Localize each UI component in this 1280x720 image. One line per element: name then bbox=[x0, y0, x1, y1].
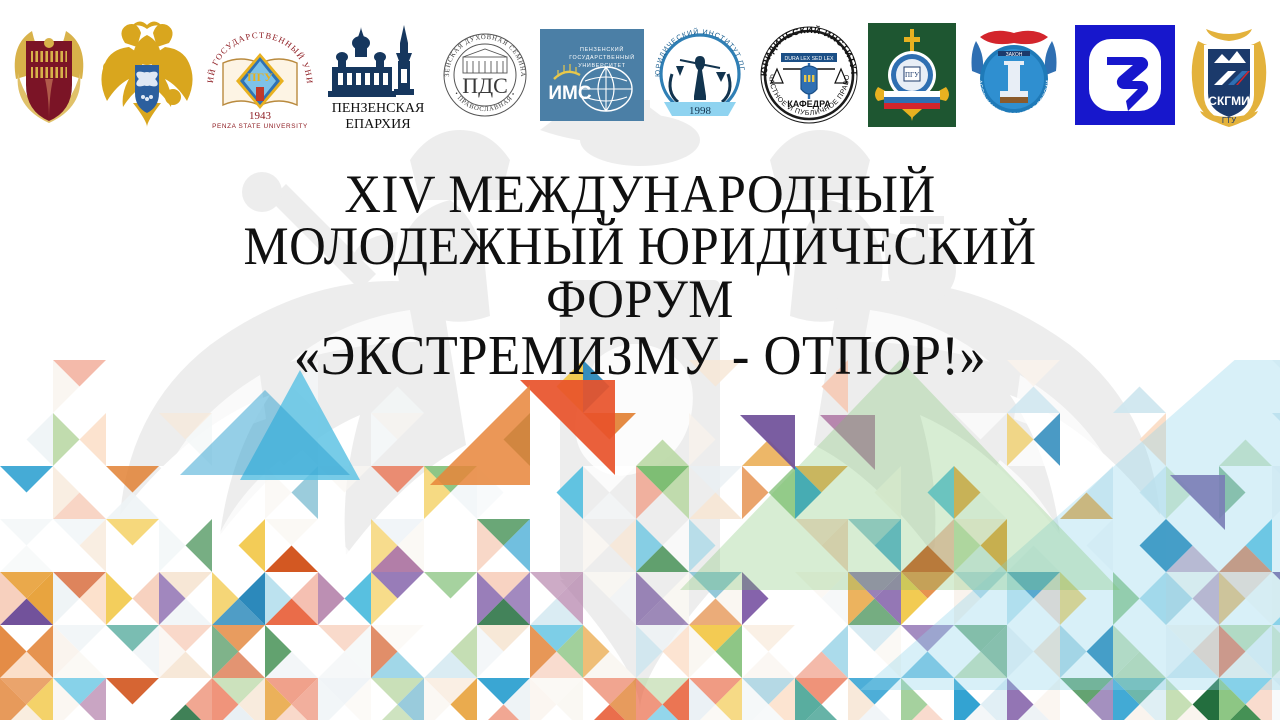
svg-text:ИМС: ИМС bbox=[548, 83, 591, 104]
skgmi-gtu-logo: СКГМИ ГТУ bbox=[1184, 19, 1274, 131]
svg-text:ГТУ: ГТУ bbox=[1222, 116, 1237, 125]
svg-text:ПЕНЗЕНСКИЙ: ПЕНЗЕНСКИЙ bbox=[580, 45, 624, 53]
svg-text:PENZA STATE UNIVERSITY: PENZA STATE UNIVERSITY bbox=[213, 123, 309, 130]
ims-institute-logo: ПЕНЗЕНСКИЙ ГОСУДАРСТВЕННЫЙ УНИВЕРСИТЕТ И… bbox=[540, 27, 644, 123]
svg-text:ПГУ: ПГУ bbox=[248, 70, 274, 84]
svg-text:ПДС: ПДС bbox=[462, 73, 508, 98]
title-line-4: «ЭКСТРЕМИЗМУ - ОТПОР!» bbox=[38, 329, 1241, 383]
penza-eparchy-logo: ПЕНЗЕНСКАЯ ЕПАРХИЯ bbox=[326, 19, 430, 131]
svg-text:1943: 1943 bbox=[249, 110, 272, 122]
svg-text:ПГУ: ПГУ bbox=[905, 71, 919, 79]
red-shield-laurel-logo bbox=[6, 21, 92, 129]
penza-state-university-logo: ПЕНЗЕНСКИЙ ГОСУДАРСТВЕННЫЙ УНИВЕРСИТЕТ П… bbox=[201, 19, 319, 131]
partner-logo-strip: ПЕНЗЕНСКИЙ ГОСУДАРСТВЕННЫЙ УНИВЕРСИТЕТ П… bbox=[0, 0, 1280, 150]
svg-text:DURA LEX SED LEX: DURA LEX SED LEX bbox=[785, 56, 835, 62]
svg-text:СКГМИ: СКГМИ bbox=[1208, 94, 1249, 108]
svg-text:ПЕНЗЕНСКАЯ: ПЕНЗЕНСКАЯ bbox=[332, 101, 425, 116]
russian-double-eagle-logo bbox=[99, 21, 195, 129]
svg-text:ЗАКОН: ЗАКОН bbox=[1006, 52, 1023, 58]
svg-text:ПЕНЗЕНСКАЯ ДУХОВНАЯ СЕМИНАРИЯ: ПЕНЗЕНСКАЯ ДУХОВНАЯ СЕМИНАРИЯ bbox=[437, 25, 526, 78]
svg-text:1998: 1998 bbox=[689, 105, 712, 117]
poster-title: XIV МЕЖДУНАРОДНЫЙ МОЛОДЕЖНЫЙ ЮРИДИЧЕСКИЙ… bbox=[0, 168, 1280, 383]
svg-text:ГОСУДАРСТВЕННЫЙ: ГОСУДАРСТВЕННЫЙ bbox=[569, 53, 635, 61]
russian-lawyers-association-logo: ЗАКОН АССОЦИАЦИЯ ЮРИСТОВ РОССИИ bbox=[962, 21, 1066, 129]
svg-text:ЕПАРХИЯ: ЕПАРХИЯ bbox=[346, 117, 411, 131]
private-and-public-law-department-logo: ЮРИДИЧЕСКИЙ ИНСТИТУТ ЧАСТНОЕ И ПУБЛИЧНОЕ… bbox=[757, 23, 861, 127]
z-mark-blue-logo bbox=[1073, 23, 1177, 127]
svg-text:КАФЕДРА: КАФЕДРА bbox=[787, 99, 831, 109]
title-line-2: МОЛОДЕЖНЫЙ ЮРИДИЧЕСКИЙ bbox=[38, 220, 1241, 272]
penza-theological-seminary-logo: ПЕНЗЕНСКАЯ ДУХОВНАЯ СЕМИНАРИЯ • ПРАВОСЛА… bbox=[437, 25, 533, 125]
title-line-1: XIV МЕЖДУНАРОДНЫЙ bbox=[38, 168, 1241, 220]
triangle-mosaic-decoration bbox=[0, 360, 1280, 720]
law-institute-pgu-logo: ЮРИДИЧЕСКИЙ ИНСТИТУТ ПГУ 1998 bbox=[650, 22, 750, 128]
pgu-cadet-emblem-logo: ПГУ bbox=[868, 21, 956, 129]
poster-canvas: ПЕНЗЕНСКИЙ ГОСУДАРСТВЕННЫЙ УНИВЕРСИТЕТ П… bbox=[0, 0, 1280, 720]
title-line-3: ФОРУМ bbox=[38, 273, 1241, 325]
svg-text:УНИВЕРСИТЕТ: УНИВЕРСИТЕТ bbox=[578, 63, 626, 69]
